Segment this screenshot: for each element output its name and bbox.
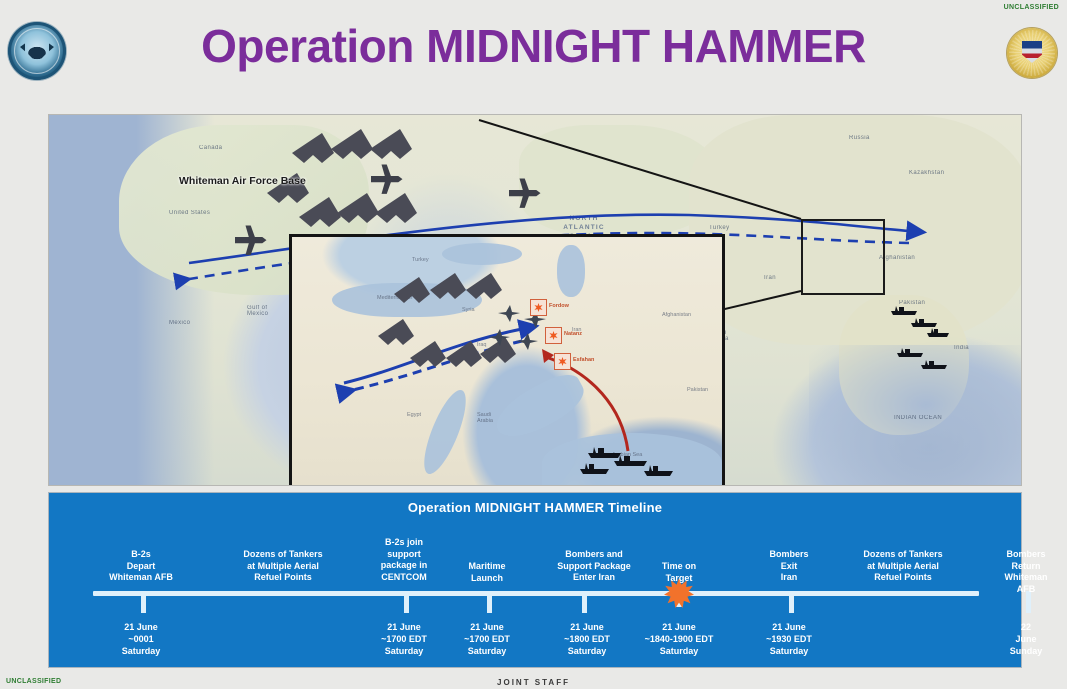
timeline-tick bbox=[141, 591, 146, 613]
timeline-event-date: 21 June ~1930 EDT Saturday bbox=[766, 621, 812, 657]
warship-icon bbox=[911, 318, 937, 327]
timeline-event-label: Maritime Launch bbox=[468, 561, 505, 584]
timeline-event-date: 21 June ~0001 Saturday bbox=[122, 621, 161, 657]
timeline-event-label: Time on Target bbox=[662, 561, 696, 584]
timeline-event-date: 21 June ~1840-1900 EDT Saturday bbox=[645, 621, 714, 657]
slide-header: Operation MIDNIGHT HAMMER bbox=[0, 0, 1067, 100]
timeline-event-label: B-2s join support package in CENTCOM bbox=[381, 537, 428, 584]
naval-vessels-inset bbox=[292, 237, 722, 486]
warship-icon bbox=[897, 348, 923, 357]
timeline-event-label: Dozens of Tankers at Multiple Aerial Ref… bbox=[243, 549, 322, 584]
timeline-event-date: 21 June ~1700 EDT Saturday bbox=[381, 621, 427, 657]
timeline-event-date: 21 June ~1700 EDT Saturday bbox=[464, 621, 510, 657]
timeline-axis bbox=[93, 591, 979, 596]
inset-map-iran: TurkeySyriaIraqIranAfghanistanSaudi Arab… bbox=[289, 234, 725, 486]
timeline-tick bbox=[789, 591, 794, 613]
timeline-event-date: 21 June ~1800 EDT Saturday bbox=[564, 621, 610, 657]
warship-icon bbox=[644, 465, 673, 476]
timeline-event-label: Bombers and Support Package Enter Iran bbox=[557, 549, 631, 584]
warship-icon bbox=[921, 360, 947, 369]
warship-icon bbox=[927, 328, 949, 337]
timeline-title: Operation MIDNIGHT HAMMER Timeline bbox=[49, 500, 1021, 515]
timeline-event-label: Dozens of Tankers at Multiple Aerial Ref… bbox=[863, 549, 942, 584]
timeline-event-label: B-2s Depart Whiteman AFB bbox=[109, 549, 173, 584]
timeline-tick bbox=[404, 591, 409, 613]
timeline-event-date: 22 June Sunday bbox=[1010, 621, 1043, 657]
timeline-tick bbox=[487, 591, 492, 613]
page-title: Operation MIDNIGHT HAMMER bbox=[0, 22, 1067, 70]
operation-map: CanadaUnited StatesMexicoGulf of MexicoB… bbox=[48, 114, 1022, 486]
slide-root: UNCLASSIFIED UNCLASSIFIED JOINT STAFF Op… bbox=[0, 0, 1067, 689]
footer-joint-staff: JOINT STAFF bbox=[0, 678, 1067, 687]
warship-icon bbox=[891, 306, 917, 315]
operation-timeline: Operation MIDNIGHT HAMMER Timeline B-2s … bbox=[48, 492, 1022, 668]
warship-icon bbox=[580, 463, 609, 474]
warship-icon bbox=[614, 455, 647, 466]
timeline-event-label: Bombers Return Whiteman AFB bbox=[1004, 549, 1047, 596]
warship-icon bbox=[588, 447, 621, 458]
timeline-tick bbox=[582, 591, 587, 613]
joint-staff-seal-icon bbox=[1007, 28, 1057, 78]
timeline-event-label: Bombers Exit Iran bbox=[769, 549, 808, 584]
